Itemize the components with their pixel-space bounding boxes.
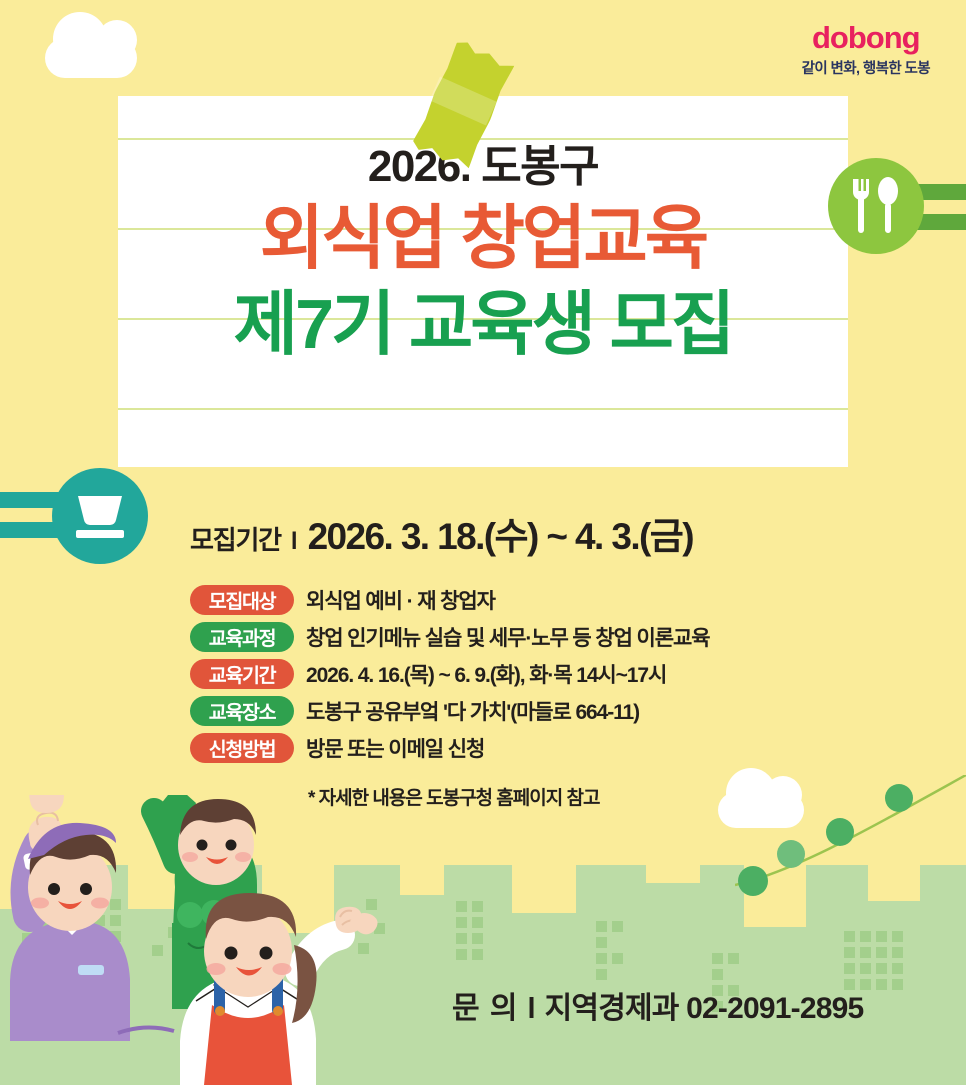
- contact-value: 지역경제과 02-2091-2895: [545, 983, 864, 1027]
- info-list: 모집대상 외식업 예비 · 재 창업자 교육과정 창업 인기메뉴 실습 및 세무…: [190, 585, 709, 810]
- info-row: 교육과정 창업 인기메뉴 실습 및 세무·노무 등 창업 이론교육: [190, 622, 709, 652]
- vine-dot: [826, 818, 854, 846]
- logo-wordmark: dobong: [802, 22, 930, 53]
- info-row-text: 외식업 예비 · 재 창업자: [306, 585, 495, 615]
- vine-dot: [777, 840, 805, 868]
- dobong-logo: dobong 같이 변화, 행복한 도봉: [802, 22, 930, 77]
- info-row: 모집대상 외식업 예비 · 재 창업자: [190, 585, 709, 615]
- page-title-main: 외식업 창업교육: [260, 196, 706, 281]
- info-row-text: 방문 또는 이메일 신청: [306, 733, 484, 763]
- period-value: 2026. 3. 18.(수) ~ 4. 3.(금): [308, 506, 693, 560]
- title-card: 2026. 도봉구 외식업 창업교육 제7기 교육생 모집: [118, 96, 848, 467]
- bowl-icon: [52, 468, 148, 564]
- logo-tagline: 같이 변화, 행복한 도봉: [802, 62, 930, 77]
- vine-dot: [885, 784, 913, 812]
- poster-root: dobong 같이 변화, 행복한 도봉 2026. 도봉구: [0, 0, 966, 1085]
- status-badge: 신청방법: [190, 733, 294, 763]
- status-badge: 교육과정: [190, 622, 294, 652]
- status-badge: 모집대상: [190, 585, 294, 615]
- contact-separator: l: [528, 993, 536, 1026]
- fork-spoon-icon: [828, 158, 924, 254]
- info-row-text: 창업 인기메뉴 실습 및 세무·노무 등 창업 이론교육: [306, 622, 709, 652]
- period-separator: l: [291, 528, 298, 556]
- page-title-sub: 제7기 교육생 모집: [234, 282, 733, 367]
- contact-info: 문 의 l 지역경제과 02-2091-2895: [452, 983, 863, 1027]
- info-row-text: 도봉구 공유부엌 '다 가치'(마들로 664-11): [306, 696, 639, 726]
- status-badge: 교육기간: [190, 659, 294, 689]
- info-row: 교육장소 도봉구 공유부엌 '다 가치'(마들로 664-11): [190, 696, 709, 726]
- period-label: 모집기간: [190, 520, 281, 557]
- info-row: 신청방법 방문 또는 이메일 신청: [190, 733, 709, 763]
- info-row: 교육기간 2026. 4. 16.(목) ~ 6. 9.(화), 화·목 14시…: [190, 659, 709, 689]
- status-badge: 교육장소: [190, 696, 294, 726]
- vine-dot: [738, 866, 768, 896]
- cloud-icon: [45, 38, 137, 78]
- info-row-text: 2026. 4. 16.(목) ~ 6. 9.(화), 화·목 14시~17시: [306, 659, 666, 689]
- page-title-year: 2026. 도봉구: [368, 144, 598, 190]
- people-illustration: [0, 795, 480, 1085]
- recruitment-period: 모집기간 l 2026. 3. 18.(수) ~ 4. 3.(금): [190, 506, 693, 560]
- contact-label: 문 의: [452, 983, 519, 1027]
